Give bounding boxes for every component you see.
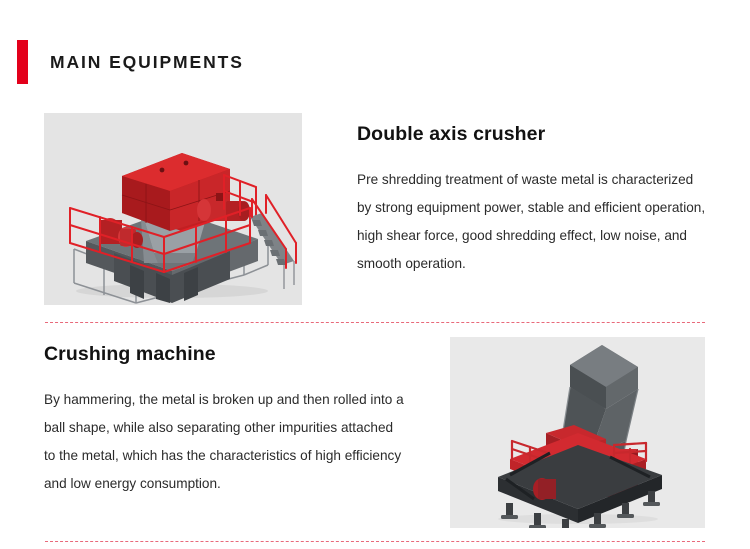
- crushing-machine-text: Crushing machine By hammering, the metal…: [44, 343, 404, 498]
- page-root: MAIN EQUIPMENTS: [0, 0, 750, 549]
- crushing-machine-photo: [450, 337, 705, 528]
- section-divider-1: [45, 322, 705, 323]
- double-axis-crusher-text: Double axis crusher Pre shredding treatm…: [357, 123, 707, 278]
- double-axis-crusher-photo: [44, 113, 302, 305]
- page-title: MAIN EQUIPMENTS: [50, 52, 244, 73]
- section-header: MAIN EQUIPMENTS: [0, 40, 244, 84]
- double-axis-crusher-image-frame: [44, 113, 302, 305]
- item-heading-crushing-machine: Crushing machine: [44, 343, 404, 366]
- section-divider-2: [45, 541, 705, 542]
- item-heading-double-axis-crusher: Double axis crusher: [357, 123, 707, 146]
- item-body-crushing-machine: By hammering, the metal is broken up and…: [44, 386, 404, 498]
- item-body-double-axis-crusher: Pre shredding treatment of waste metal i…: [357, 166, 707, 278]
- crushing-machine-image-frame: [450, 337, 705, 528]
- title-accent-bar: [17, 40, 28, 84]
